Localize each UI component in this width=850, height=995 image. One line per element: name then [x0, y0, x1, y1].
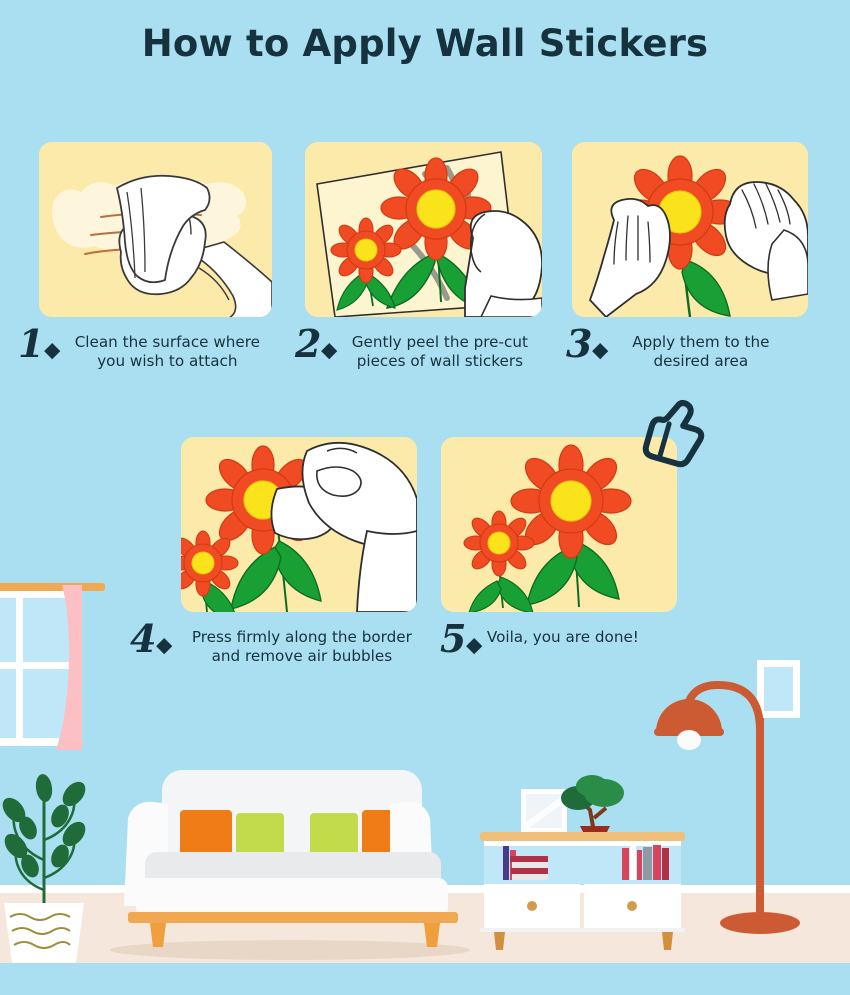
- wall-picture-frame: [757, 660, 800, 718]
- step-4-text: Press firmly along the border and remove…: [177, 622, 427, 666]
- step-4-caption: 4⬥ Press firmly along the border and rem…: [130, 622, 440, 666]
- flower-small: [331, 218, 401, 283]
- step-3-text: Apply them to the desired area: [613, 327, 789, 371]
- step-2-text: Gently peel the pre-cut pieces of wall s…: [342, 327, 538, 371]
- step-3-caption: 3⬥ Apply them to the desired area: [566, 327, 816, 371]
- step-2-caption: 2⬥ Gently peel the pre-cut pieces of wal…: [295, 327, 550, 371]
- step-5-text: Voila, you are done!: [487, 622, 667, 647]
- step-1-caption: 1⬥ Clean the surface where you wish to a…: [18, 327, 278, 371]
- step-1-number: 1⬥: [18, 327, 60, 367]
- step-2-number: 2⬥: [295, 327, 337, 367]
- step-3-illustration: [572, 142, 808, 317]
- step-1-text: Clean the surface where you wish to atta…: [65, 327, 270, 371]
- step-2-illustration: [305, 142, 542, 317]
- step-4-number: 4⬥: [130, 622, 172, 662]
- page-title: How to Apply Wall Stickers: [0, 22, 850, 65]
- step-5-number: 5⬥: [440, 622, 482, 662]
- thumbs-up-icon: [639, 395, 719, 471]
- step-4-illustration: [181, 437, 417, 612]
- infographic-canvas: How to Apply Wall Stickers: [0, 0, 850, 995]
- flower-small: [464, 511, 534, 576]
- step-3-number: 3⬥: [566, 327, 608, 367]
- step-1-illustration: [39, 142, 272, 317]
- step-5-caption: 5⬥ Voila, you are done!: [440, 622, 690, 662]
